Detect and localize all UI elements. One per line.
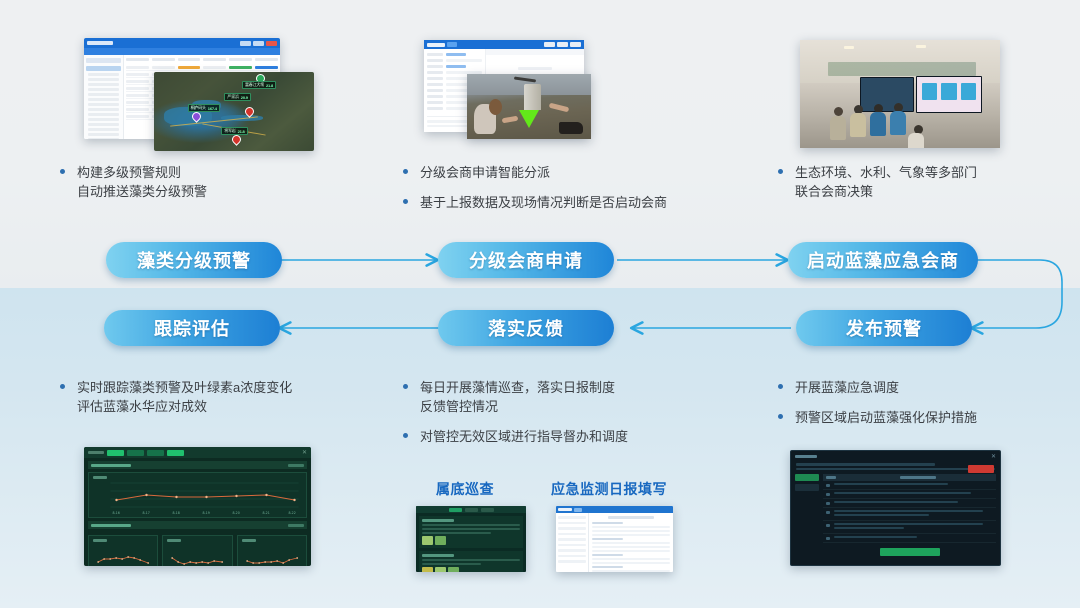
record-photos [422, 567, 520, 572]
tab-option [147, 450, 164, 456]
alert-level-badge [968, 465, 994, 473]
bullet-item: 每日开展藻情巡查，落实日报制度 反馈管控情况 [403, 378, 753, 416]
svg-text:8-18: 8-18 [173, 511, 180, 515]
screenshot-emergency-dispatch-dialog: ✕ [790, 450, 1001, 566]
bullets-publish-alert: 开展蓝藻应急调度 预警区域启动蓝藻强化保护措施 [778, 378, 1073, 438]
bullet-text: 每日开展藻情巡查，落实日报制度 反馈管控情况 [420, 378, 615, 416]
app-titlebar [556, 506, 673, 513]
app-title-placeholder [558, 508, 572, 511]
bullet-item: 开展蓝藻应急调度 [778, 378, 1073, 397]
pill-tracking-assessment[interactable]: 跟踪评估 [104, 310, 280, 346]
bullet-dot [778, 414, 783, 419]
inspection-toolbar [416, 506, 526, 513]
line-chart-station-1 [88, 535, 158, 566]
report-title-placeholder [608, 516, 655, 519]
inspection-record [419, 516, 523, 548]
dashboard-toolbar: ✕ [84, 447, 311, 458]
bullet-item: 对管控无效区域进行指导督办和调度 [403, 427, 753, 446]
bullet-text: 对管控无效区域进行指导督办和调度 [420, 427, 628, 446]
dialog-title-placeholder [795, 455, 817, 458]
chart-title-placeholder [93, 476, 107, 479]
tab-option [449, 508, 462, 512]
status-chip [574, 508, 582, 512]
form-sidebar [556, 513, 589, 572]
station-chart-group [88, 532, 307, 566]
close-icon: ✕ [302, 449, 307, 456]
dialog-titlebar: ✕ [791, 451, 1000, 461]
svg-text:8-19: 8-19 [203, 511, 210, 515]
screenshot-chlorophyll-trend-dashboard: ✕ [84, 447, 311, 566]
svg-text:8-16: 8-16 [113, 511, 120, 515]
pill-start-emergency-consultation[interactable]: 启动蓝藻应急会商 [788, 242, 978, 278]
svg-text:8-22: 8-22 [289, 511, 296, 515]
bullets-tracking-assessment: 实时跟踪藻类预警及叶绿素a浓度变化 评估蓝藻水华应对成效 [60, 378, 400, 427]
screenshot-daily-report-form [556, 506, 673, 572]
inspection-record [419, 551, 523, 572]
line-chart-total: 8-168-17 8-188-19 8-208-21 8-22 [88, 472, 307, 518]
dialog-body [791, 474, 1000, 556]
list-header [823, 474, 996, 481]
section-header [88, 461, 307, 469]
tab-option [167, 450, 184, 456]
measures-list [823, 474, 996, 556]
line-chart-svg: 8-168-17 8-188-19 8-208-21 8-22 [89, 473, 306, 517]
record-title-placeholder [422, 519, 454, 522]
report-preview [589, 513, 673, 572]
diagram-stage: 富春江大坝21.8 严家浜20.9 桐庐码头167.4 将军岩21.8 [0, 0, 1080, 608]
line-chart-station-3 [237, 535, 307, 566]
section-header [88, 521, 307, 529]
bullet-dot [778, 384, 783, 389]
bullet-text: 预警区域启动蓝藻强化保护措施 [795, 408, 977, 427]
svg-text:8-20: 8-20 [233, 511, 240, 515]
bullet-item: 实时跟踪藻类预警及叶绿素a浓度变化 评估蓝藻水华应对成效 [60, 378, 400, 416]
tab-option [127, 450, 144, 456]
pill-consultation-request[interactable]: 分级会商申请 [438, 242, 614, 278]
dashboard-title-placeholder [88, 451, 104, 454]
screenshot-inspection-records [416, 506, 526, 572]
chart-title-placeholder [242, 539, 256, 542]
list-item [823, 481, 996, 490]
dashboard-section-trend: 8-168-17 8-188-19 8-208-21 8-22 [88, 461, 307, 518]
caption-daily-report: 应急监测日报填写 [551, 479, 667, 499]
list-item [823, 521, 996, 534]
dialog-nav [795, 474, 819, 556]
pill-publish-alert[interactable]: 发布预警 [796, 310, 972, 346]
record-title-placeholder [422, 554, 454, 557]
bullet-dot [60, 384, 65, 389]
list-item [823, 490, 996, 499]
bullet-text: 开展蓝藻应急调度 [795, 378, 899, 397]
tab-option [465, 508, 478, 512]
pill-algae-grading-alert[interactable]: 藻类分级预警 [106, 242, 282, 278]
svg-text:8-17: 8-17 [143, 511, 150, 515]
caption-inspection: 属底巡查 [436, 479, 494, 499]
close-icon: ✕ [991, 453, 996, 460]
bullet-dot [403, 384, 408, 389]
confirm-button [880, 548, 940, 556]
line-chart-station-2 [162, 535, 232, 566]
pill-implementation-feedback[interactable]: 落实反馈 [438, 310, 614, 346]
svg-text:8-21: 8-21 [263, 511, 270, 515]
tab-option [481, 508, 494, 512]
bullet-item: 预警区域启动蓝藻强化保护措施 [778, 408, 1073, 427]
nav-item-active [795, 474, 819, 481]
list-item [823, 508, 996, 521]
bullet-text: 实时跟踪藻类预警及叶绿素a浓度变化 评估蓝藻水华应对成效 [77, 378, 292, 416]
nav-item [795, 484, 819, 491]
list-item [823, 499, 996, 508]
chart-title-placeholder [93, 539, 107, 542]
record-photos [422, 536, 520, 545]
bullet-dot [403, 433, 408, 438]
chart-title-placeholder [167, 539, 181, 542]
list-item [823, 534, 996, 543]
dashboard-section-stations [88, 521, 307, 566]
app-content [556, 513, 673, 572]
bullets-implementation-feedback: 每日开展藻情巡查，落实日报制度 反馈管控情况 对管控无效区域进行指导督办和调度 [403, 378, 753, 457]
tab-option [107, 450, 124, 456]
